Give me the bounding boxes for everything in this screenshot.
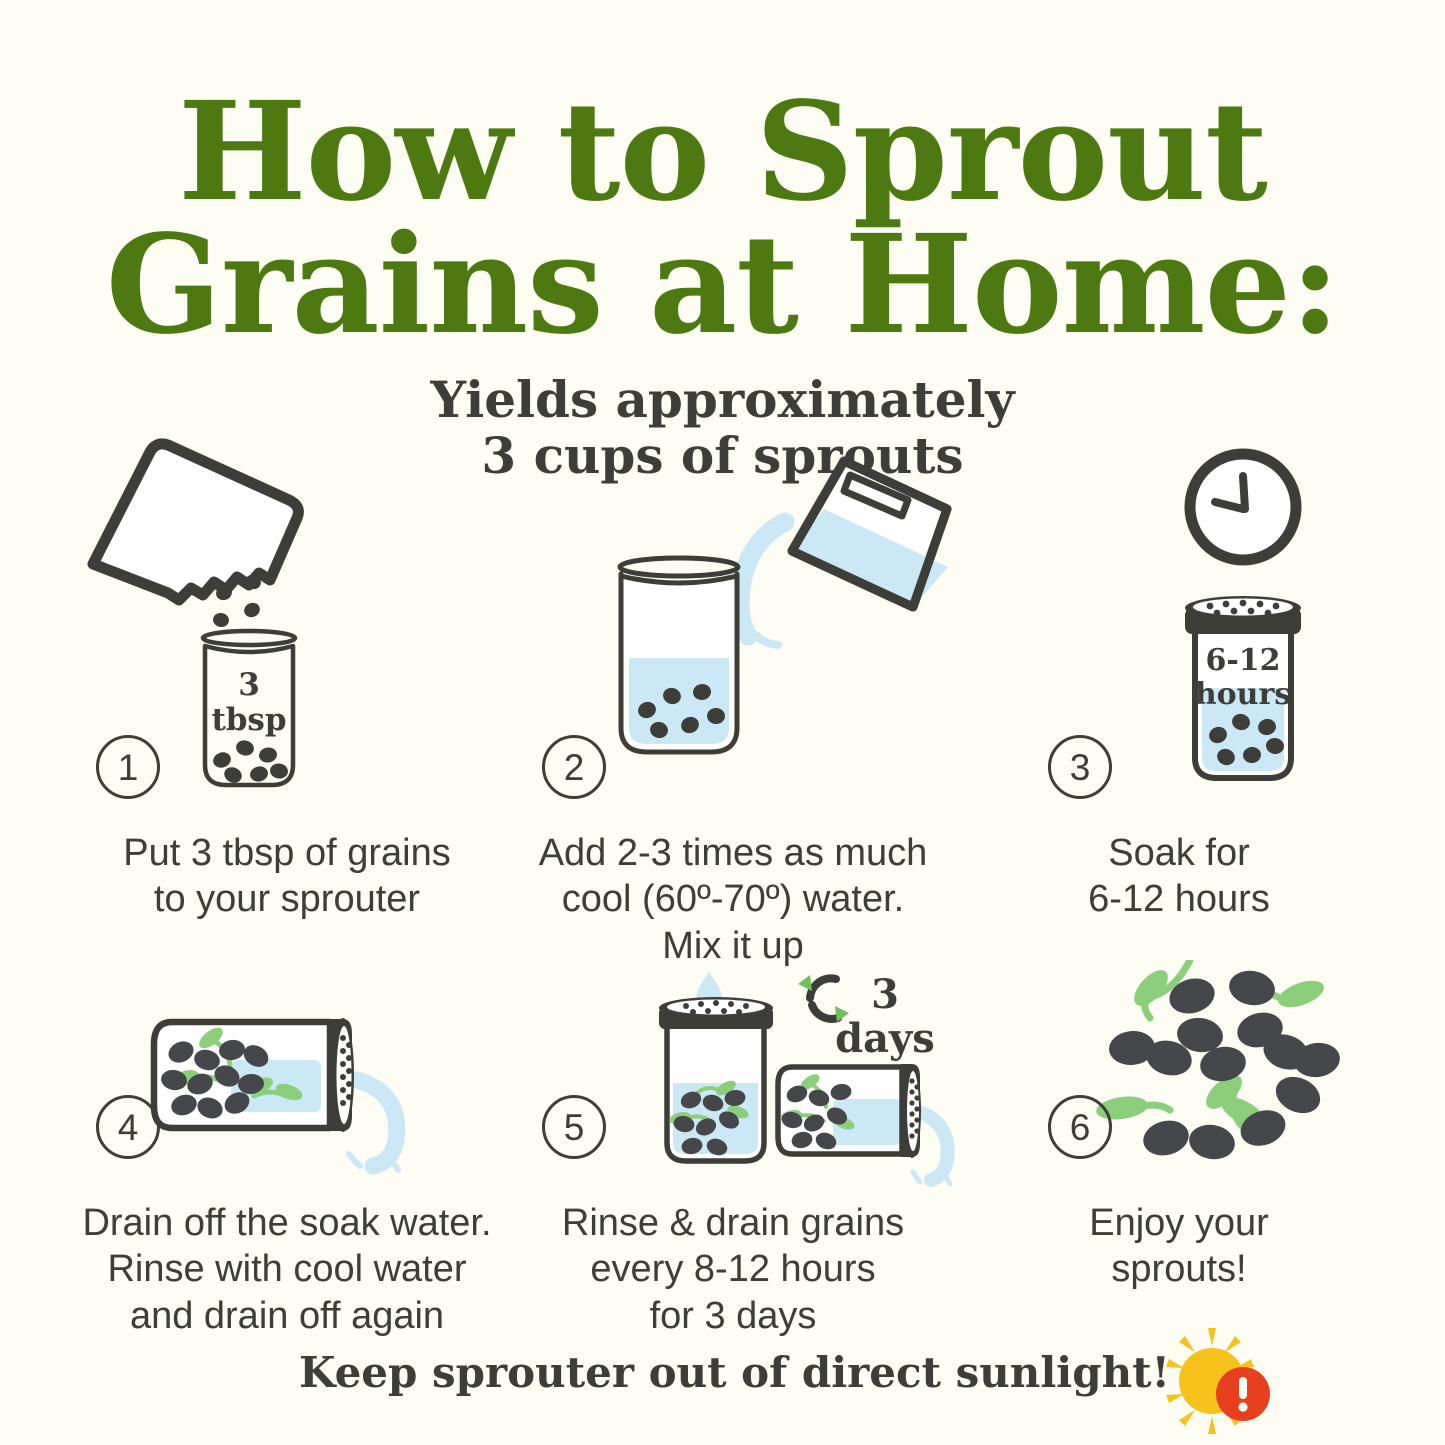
step-4-caption: Drain off the soak water. Rinse with coo…	[46, 1200, 528, 1339]
step-5-label-line1: 3	[871, 971, 899, 1018]
step-1-jar-label-line2: tbsp	[211, 702, 286, 738]
footer-note: Keep sprouter out of direct sunlight!	[230, 1352, 1170, 1394]
sprouted-seeds-cluster-icon	[1095, 960, 1342, 1163]
step-3-caption: Soak for 6-12 hours	[938, 830, 1420, 923]
step-4-number: 4	[96, 1095, 160, 1159]
step-5-number: 5	[542, 1095, 606, 1159]
clock-icon	[1190, 454, 1296, 560]
water-pour-icon	[740, 522, 785, 645]
step-1-caption: Put 3 tbsp of grains to your sprouter	[46, 830, 528, 923]
alert-exclamation-dot	[1238, 1402, 1247, 1411]
step-2-caption: Add 2-3 times as much cool (60º-70º) wat…	[492, 830, 974, 969]
infographic-poster: How to Sprout Grains at Home: Yields app…	[0, 0, 1445, 1445]
water-splash-icon	[349, 1080, 398, 1170]
sun-warning-icon	[1158, 1326, 1276, 1438]
step-3-jar-label-line2: hours	[1195, 677, 1291, 712]
step-1-jar-label-line1: 3	[238, 667, 260, 703]
sun-warning-svg	[1158, 1326, 1276, 1438]
step-3-illustration: 6-12 hours	[938, 430, 1420, 825]
step-6-art-svg	[938, 960, 1420, 1190]
mesh-lid-jar-icon	[659, 997, 773, 1161]
jar-seeds-icon	[211, 738, 289, 785]
step-6-caption: Enjoy your sprouts!	[938, 1200, 1420, 1293]
step-5-caption: Rinse & drain grains every 8-12 hours fo…	[492, 1200, 974, 1339]
step-1-number: 1	[96, 735, 160, 799]
mesh-lid-jar-icon: 6-12 hours	[1185, 596, 1301, 778]
step-6-illustration	[938, 960, 1420, 1195]
step-3-number: 3	[1048, 735, 1112, 799]
tilted-jar-icon	[778, 1064, 921, 1158]
step-3-art-svg: 6-12 hours	[938, 430, 1420, 820]
step-4-art-svg	[46, 1000, 528, 1190]
pitcher-icon	[792, 461, 948, 607]
step-3-jar-label-line1: 6-12	[1205, 643, 1280, 678]
step-5-illustration: 3 days	[492, 960, 974, 1195]
step-6-number: 6	[1048, 1095, 1112, 1159]
step-2-number: 2	[542, 735, 606, 799]
page-title: How to Sprout Grains at Home:	[0, 86, 1445, 353]
seed-packet-icon	[93, 444, 298, 600]
step-5-label-line2: days	[835, 1015, 935, 1062]
alert-exclamation-stem	[1239, 1377, 1247, 1399]
